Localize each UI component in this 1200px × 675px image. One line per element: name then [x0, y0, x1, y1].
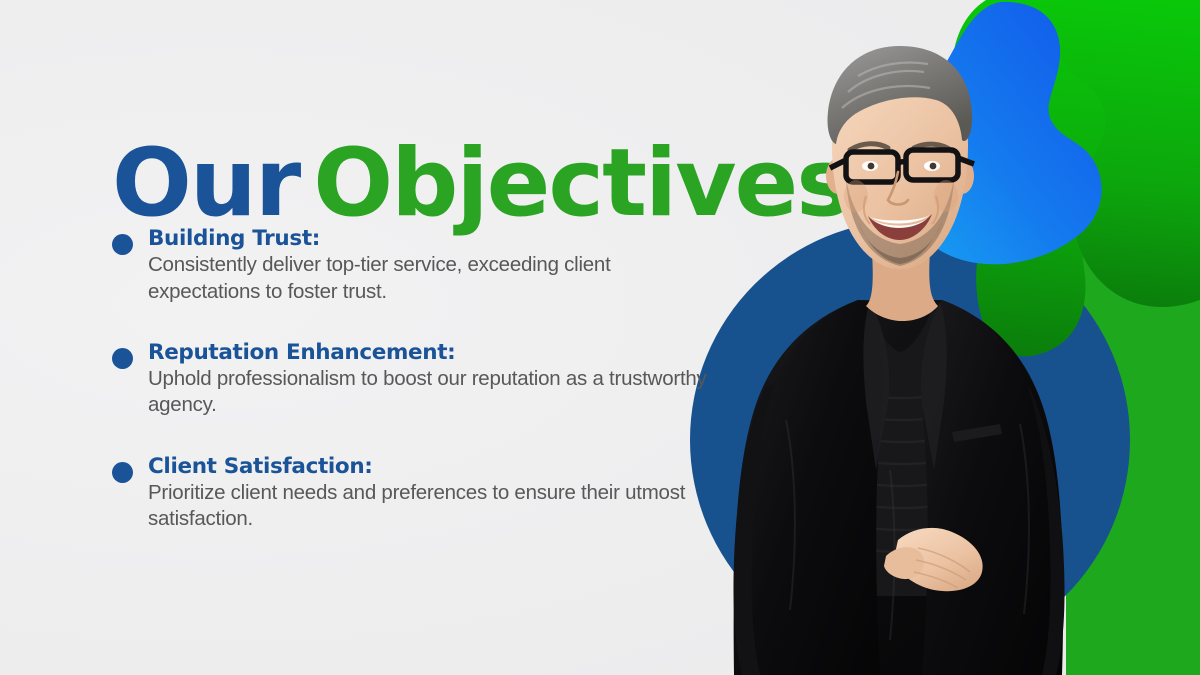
black-blazer [733, 300, 1064, 675]
list-item: Client Satisfaction: Prioritize client n… [110, 454, 720, 533]
bullet-heading: Client Satisfaction: [148, 454, 720, 479]
objectives-list: Building Trust: Consistently deliver top… [110, 226, 720, 532]
bullet-body: Uphold professionalism to boost our repu… [148, 366, 718, 418]
bullet-body: Consistently deliver top-tier service, e… [148, 252, 718, 304]
bullet-dot-icon [112, 462, 133, 483]
bullet-body: Prioritize client needs and preferences … [148, 480, 718, 532]
bullet-heading: Building Trust: [148, 226, 720, 251]
list-item: Reputation Enhancement: Uphold professio… [110, 340, 720, 419]
bullet-dot-icon [112, 234, 133, 255]
bullet-heading: Reputation Enhancement: [148, 340, 720, 365]
head [826, 46, 974, 269]
bullet-dot-icon [112, 348, 133, 369]
list-item: Building Trust: Consistently deliver top… [110, 226, 720, 305]
title-word-our: Our [112, 129, 299, 238]
presentation-slide: OurObjectives Building Trust: Consistent… [0, 0, 1200, 675]
smiling-businessman-photo [690, 0, 1110, 675]
